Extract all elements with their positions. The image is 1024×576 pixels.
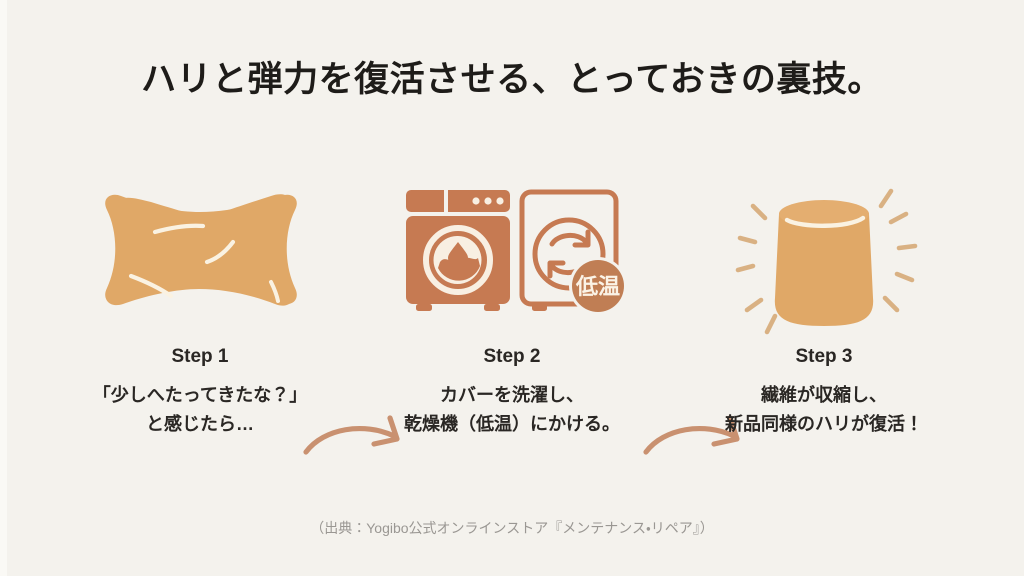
step-2-caption-line-2: 乾燥機（低温）にかける。 (362, 410, 662, 439)
step-1-label: Step 1 (50, 344, 350, 370)
step-card-2: 低温 Step 2 カバーを洗濯し、 乾燥機（低温）にかける。 (362, 170, 662, 470)
source-note: （出典：Yogibo公式オンラインストア『メンテナンス・リペア』） (0, 518, 1024, 538)
step-3-illustration (674, 170, 974, 340)
low-temperature-badge: 低温 (569, 257, 627, 315)
step-2-caption: カバーを洗濯し、 乾燥機（低温）にかける。 (362, 381, 662, 439)
badge-text: 低温 (575, 274, 620, 299)
step-3-caption: 繊維が収縮し、 新品同様のハリが復活！ (674, 381, 974, 439)
infographic-slide: ハリと弾力を復活させる、とっておきの裏技。 Step 1 「少しへたってきたな？… (0, 0, 1024, 576)
step-3-label: Step 3 (674, 344, 974, 370)
washer-dryer-icon: 低温 (392, 170, 632, 335)
step-2-illustration: 低温 (362, 170, 662, 340)
revived-cushion-icon (709, 170, 939, 345)
step-2-label: Step 2 (362, 344, 662, 370)
step-2-caption-line-1: カバーを洗濯し、 (362, 381, 662, 410)
page-title: ハリと弾力を復活させる、とっておきの裏技。 (0, 58, 1024, 102)
deflated-cushion-icon (85, 170, 315, 335)
washing-machine-icon (406, 190, 510, 311)
step-3-caption-line-2: 新品同様のハリが復活！ (674, 410, 974, 439)
step-1-illustration (50, 170, 350, 340)
step-1-caption-line-1: 「少しへたってきたな？」 (50, 381, 350, 410)
step-3-caption-line-1: 繊維が収縮し、 (674, 381, 974, 410)
step-card-3: Step 3 繊維が収縮し、 新品同様のハリが復活！ (674, 170, 974, 470)
steps-row: Step 1 「少しへたってきたな？」 と感じたら… (0, 170, 1024, 470)
